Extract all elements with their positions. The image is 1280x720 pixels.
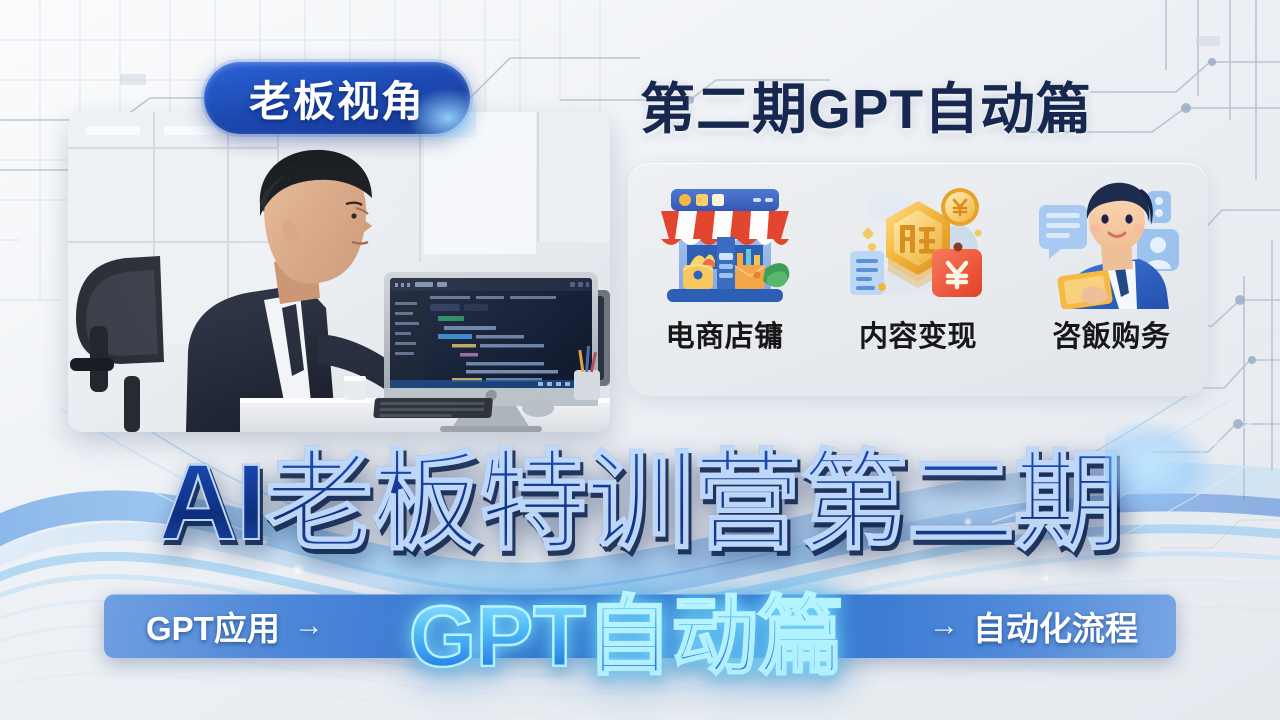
- footer-bar: GPT应用 → GPT自动篇 → 自动化流程: [104, 594, 1176, 658]
- secondary-headline: 第二期GPT自动篇: [640, 68, 1160, 140]
- footer-right-label: 自动化流程: [973, 602, 1138, 650]
- footer-left-group: GPT应用 →: [146, 602, 324, 650]
- footer-right-group: → 自动化流程: [929, 602, 1138, 650]
- feature-card-row: 电商店镛: [628, 177, 1208, 355]
- feature-card-consulting-label: 咨飯购务: [1052, 313, 1170, 355]
- business-consultant-icon: [1035, 177, 1187, 309]
- feature-card-ecommerce-label: 电商店镛: [666, 313, 784, 355]
- feature-card-panel: 电商店镛: [628, 163, 1208, 396]
- viewpoint-badge[interactable]: 老板视角: [204, 62, 470, 134]
- secondary-headline-text: 第二期GPT自动篇: [640, 64, 1092, 144]
- storefront-icon: [649, 177, 801, 309]
- businessman-at-desk-photo: [68, 112, 610, 432]
- main-title: AI老板特训营第二期: [0, 428, 1280, 558]
- arrow-right-icon-left: →: [294, 609, 324, 643]
- feature-card-monetization-label: 内容变现: [859, 313, 977, 355]
- feature-card-consulting[interactable]: 咨飯购务: [1015, 177, 1208, 355]
- main-title-text: AI老板特训营第二期: [159, 415, 1121, 571]
- feature-card-monetization[interactable]: 内容变现: [821, 177, 1014, 355]
- arrow-right-icon-right: →: [929, 609, 959, 643]
- feature-card-ecommerce[interactable]: 电商店镛: [628, 177, 821, 355]
- footer-left-label: GPT应用: [146, 602, 280, 650]
- footer-center-label: GPT自动篇: [409, 566, 844, 691]
- gold-coin-badge-icon: [842, 177, 994, 309]
- viewpoint-badge-label: 老板视角: [249, 68, 425, 129]
- banner-canvas: 老板视角 第二期GPT自动篇: [0, 0, 1280, 720]
- footer-center-group: GPT自动篇: [324, 594, 929, 658]
